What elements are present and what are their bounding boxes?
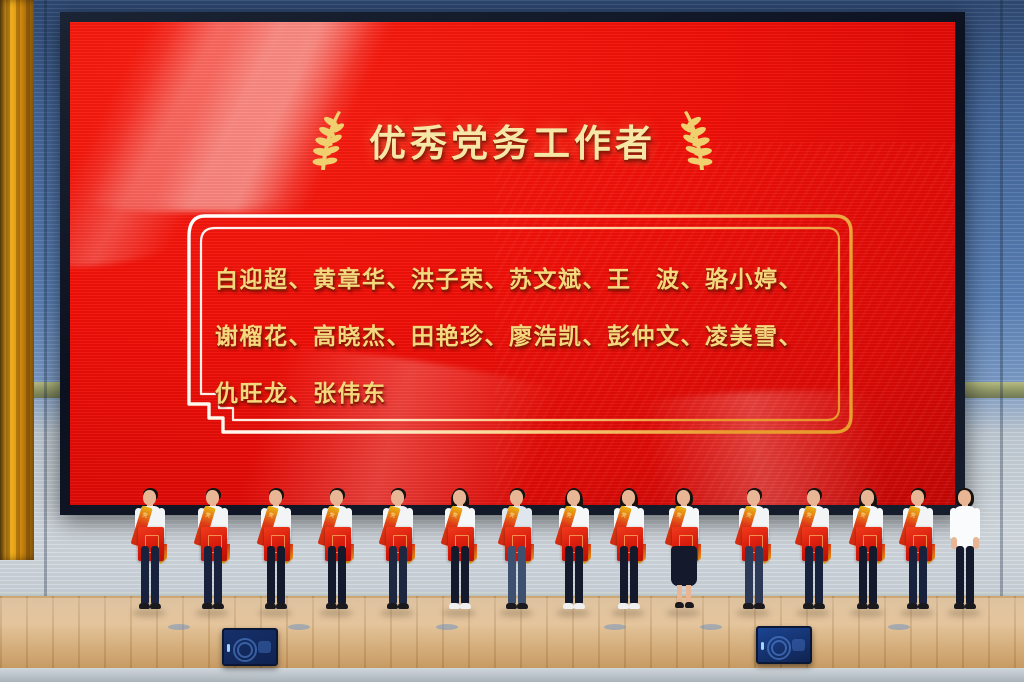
- person-shoe-right: [965, 603, 976, 609]
- person-leg-right: [966, 546, 974, 604]
- person-shadow: [442, 609, 476, 617]
- person-leg-right: [338, 546, 346, 604]
- person-leg-right: [815, 546, 823, 604]
- person-leg-right: [461, 546, 469, 604]
- sash-label: 党: [202, 511, 214, 520]
- honoree-person: 党: [440, 487, 480, 622]
- person-shadow: [850, 609, 884, 617]
- person-shoe-left: [618, 603, 629, 609]
- monitor-right: [756, 626, 812, 664]
- monitor-led-icon: [227, 644, 230, 652]
- led-screen: 优秀党务工作者: [70, 22, 955, 505]
- person-leg-left: [677, 585, 682, 603]
- monitor-woofer-inner: [771, 640, 787, 656]
- person-leg-left: [389, 546, 397, 604]
- honoree-person: 党: [898, 487, 938, 622]
- person-shoe-right: [150, 603, 161, 609]
- person-leg-right: [575, 546, 583, 604]
- person-leg-right: [686, 585, 691, 603]
- person-leg-left: [620, 546, 628, 604]
- sash-label: 党: [506, 511, 518, 520]
- floor-marker: [168, 624, 190, 630]
- sash-label: 党: [857, 511, 869, 520]
- sash-label: 党: [673, 511, 685, 520]
- honoree-person: 党: [734, 487, 774, 622]
- person-shoe-right: [868, 603, 879, 609]
- floor-marker: [888, 624, 910, 630]
- person-leg-right: [869, 546, 877, 604]
- person-shoe-left: [449, 603, 460, 609]
- person-leg-right: [399, 546, 407, 604]
- sash-label: 党: [326, 511, 338, 520]
- ceremony-photo: 优秀党务工作者: [0, 0, 1024, 682]
- led-screen-bezel: 优秀党务工作者: [60, 12, 965, 515]
- honoree-person: 党: [554, 487, 594, 622]
- sash-label: 党: [449, 511, 461, 520]
- curtain-fold: [6, 0, 10, 560]
- floor-marker: [604, 624, 626, 630]
- person-leg-left: [451, 546, 459, 604]
- person-shoe-left: [857, 603, 868, 609]
- honoree-person: 党: [317, 487, 357, 622]
- laurel-branch-left-icon: [297, 108, 347, 172]
- honoree-person: 党: [193, 487, 233, 622]
- person-shoe-right: [460, 603, 471, 609]
- person-shoe-right: [918, 603, 929, 609]
- monitor-horn: [258, 641, 271, 653]
- person-shoe-right: [517, 603, 528, 609]
- person-leg-left: [508, 546, 516, 604]
- person-leg-right: [151, 546, 159, 604]
- stage-curtain-left: [0, 0, 34, 560]
- stage-front-edge: [0, 668, 1024, 682]
- honoree-person: 党: [794, 487, 834, 622]
- person-leg-left: [267, 546, 275, 604]
- person-shadow: [796, 609, 830, 617]
- honoree-name-line-1: 白迎超、黄章华、洪子荣、苏文斌、王 波、骆小婷、: [215, 252, 835, 309]
- person-leg-left: [805, 546, 813, 604]
- person-shoe-right: [814, 603, 825, 609]
- wall-seam: [1000, 0, 1003, 620]
- honoree-name-list: 白迎超、黄章华、洪子荣、苏文斌、王 波、骆小婷、 谢榴花、高晓杰、田艳珍、廖浩凯…: [215, 252, 835, 423]
- curtain-fold: [26, 0, 30, 560]
- person-leg-right: [214, 546, 222, 604]
- honoree-person: 党: [378, 487, 418, 622]
- person-leg-left: [204, 546, 212, 604]
- person-shadow: [195, 609, 229, 617]
- person-hand-right: [973, 537, 979, 549]
- person-shadow: [380, 609, 414, 617]
- monitor-led-icon: [761, 642, 764, 650]
- person-shoe-left: [202, 603, 213, 609]
- sash-label: 党: [139, 511, 151, 520]
- screen-title-row: 优秀党务工作者: [70, 102, 955, 178]
- person-shadow: [900, 609, 934, 617]
- person-leg-right: [277, 546, 285, 604]
- person-shoe-left: [326, 603, 337, 609]
- person-leg-right: [518, 546, 526, 604]
- person-leg-left: [328, 546, 336, 604]
- person-leg-left: [909, 546, 917, 604]
- wall-seam: [44, 0, 47, 620]
- person-shoe-right: [276, 603, 287, 609]
- person-leg-left: [565, 546, 573, 604]
- person-leg-left: [859, 546, 867, 604]
- person-shoe-right: [629, 603, 640, 609]
- person-leg-right: [630, 546, 638, 604]
- person-leg-right: [919, 546, 927, 604]
- laurel-branch-right-icon: [678, 108, 728, 172]
- floor-marker: [436, 624, 458, 630]
- person-shoe-right: [754, 603, 765, 609]
- person-leg-right: [755, 546, 763, 604]
- person-shoe-left: [563, 603, 574, 609]
- monitor-woofer-inner: [237, 642, 253, 658]
- person-leg-left: [956, 546, 964, 604]
- honoree-person: 党: [848, 487, 888, 622]
- floor-marker: [700, 624, 722, 630]
- person-shoe-right: [337, 603, 348, 609]
- person-shoe-right: [574, 603, 585, 609]
- monitor-horn: [792, 639, 805, 651]
- honoree-person: 党: [130, 487, 170, 622]
- person-shoe-left: [139, 603, 150, 609]
- person-shoe-left: [506, 603, 517, 609]
- person-shadow: [132, 609, 166, 617]
- honoree-person: 党: [256, 487, 296, 622]
- honoree-name-line-2: 谢榴花、高晓杰、田艳珍、廖浩凯、彭仲文、凌美雪、: [215, 309, 835, 366]
- person-shoe-left: [743, 603, 754, 609]
- sash-label: 党: [743, 511, 755, 520]
- honoree-person: 党: [664, 487, 704, 622]
- curtain-fold: [16, 0, 20, 560]
- person-shoe-left: [387, 603, 398, 609]
- person-shadow: [319, 609, 353, 617]
- person-shadow: [556, 609, 590, 617]
- person-shoe-left: [265, 603, 276, 609]
- sash-label: 党: [387, 511, 399, 520]
- person-leg-left: [141, 546, 149, 604]
- honoree-person: 党: [609, 487, 649, 622]
- honoree-person: [945, 487, 985, 622]
- sash-label: 党: [618, 511, 630, 520]
- monitor-left: [222, 628, 278, 666]
- person-shoe-left: [803, 603, 814, 609]
- person-leg-left: [745, 546, 753, 604]
- person-shadow: [666, 609, 700, 617]
- sash-label: 党: [907, 511, 919, 520]
- person-shoe-left: [907, 603, 918, 609]
- page-title: 优秀党务工作者: [369, 113, 656, 167]
- person-shadow: [611, 609, 645, 617]
- person-shoe-left: [954, 603, 965, 609]
- person-arm-right: [973, 508, 980, 540]
- person-shadow: [258, 609, 292, 617]
- person-shoe-right: [398, 603, 409, 609]
- sash-label: 党: [803, 511, 815, 520]
- person-shoe-left: [675, 602, 684, 608]
- person-shadow: [499, 609, 533, 617]
- honoree-name-line-3: 仇旺龙、张伟东: [215, 366, 835, 423]
- floor-marker: [288, 624, 310, 630]
- person-shoe-right: [213, 603, 224, 609]
- person-shadow: [736, 609, 770, 617]
- sash-label: 党: [265, 511, 277, 520]
- sash-label: 党: [563, 511, 575, 520]
- honoree-person: 党: [497, 487, 537, 622]
- person-shadow: [947, 609, 981, 617]
- person-skirt: [671, 546, 697, 586]
- person-arm-left: [950, 508, 957, 540]
- person-shoe-right: [685, 602, 694, 608]
